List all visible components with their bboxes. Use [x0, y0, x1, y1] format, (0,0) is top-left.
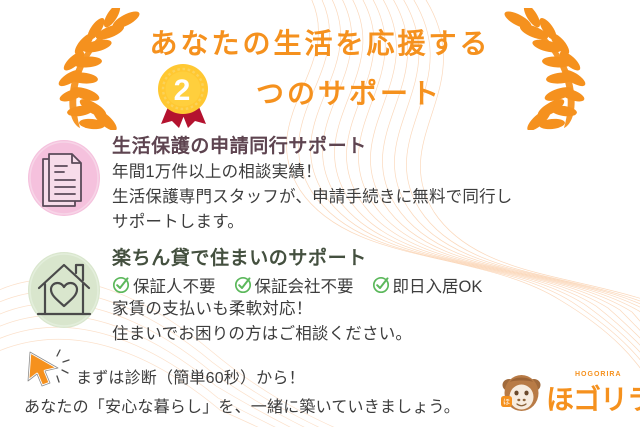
svg-text:ほ: ほ: [503, 398, 510, 406]
support-item-1-body: 生活保護の申請同行サポート 年間1万件以上の相談実績！ 生活保護専門スタッフが、…: [112, 134, 634, 235]
check-item-1-label: 保証人不要: [133, 273, 216, 297]
house-heart-icon: [26, 248, 102, 332]
support-item-2-heading: 楽ちん貸で住まいのサポート: [112, 246, 634, 272]
promo-banner: あなたの生活を応援する つのサポート 2: [0, 0, 640, 427]
medal-number: 2: [157, 66, 207, 116]
footer-line-2: あなたの「安心な暮らし」を、一緒に築いていきましょう。: [24, 393, 460, 417]
check-circle-icon: [112, 275, 131, 294]
check-item-3: 即日入居OK: [372, 273, 483, 297]
support-item-1-line-2: 生活保護専門スタッフが、申請手続きに無料で同行し: [112, 185, 634, 210]
support-item-2-line-1: 家賃の支払いも柔軟対応！: [112, 297, 634, 322]
brand-logo[interactable]: ほ HOGORIRA ほゴリラ: [500, 370, 634, 420]
check-circle-icon: [372, 275, 391, 294]
brand-logo-subtitle: HOGORIRA: [575, 371, 622, 378]
headline-secondary: つのサポート: [0, 72, 640, 112]
brand-logo-wordmark: ほゴリラ: [546, 378, 640, 418]
support-item-2-line-2: 住まいでお困りの方はご相談ください。: [112, 322, 634, 347]
documents-icon: [26, 136, 102, 220]
check-item-1: 保証人不要: [112, 273, 216, 297]
support-item-2-check-list: 保証人不要 保証会社不要 即日入居OK: [112, 272, 634, 297]
headline-primary: あなたの生活を応援する: [0, 22, 640, 62]
support-item-1-line-1: 年間1万件以上の相談実績！: [112, 160, 634, 185]
support-item-2-body: 楽ちん貸で住まいのサポート 保証人不要 保証会社不要: [112, 246, 634, 347]
footer-line-1: まずは診断（簡単60秒）から！: [76, 364, 305, 388]
banner-footer: まずは診断（簡単60秒）から！ あなたの「安心な暮らし」を、一緒に築いていきまし…: [0, 352, 640, 427]
click-cursor-icon: [24, 348, 76, 392]
support-item-1-line-3: サポートします。: [112, 210, 634, 235]
gorilla-mascot-icon: ほ: [500, 372, 544, 414]
medal-badge: 2: [157, 62, 211, 128]
support-item-1-heading: 生活保護の申請同行サポート: [112, 134, 634, 160]
check-circle-icon: [234, 275, 253, 294]
check-item-2-label: 保証会社不要: [255, 273, 354, 297]
check-item-2: 保証会社不要: [234, 273, 354, 297]
headline-secondary-text: つのサポート: [256, 78, 442, 109]
check-item-3-label: 即日入居OK: [393, 273, 483, 297]
banner-header: あなたの生活を応援する つのサポート: [0, 0, 640, 128]
